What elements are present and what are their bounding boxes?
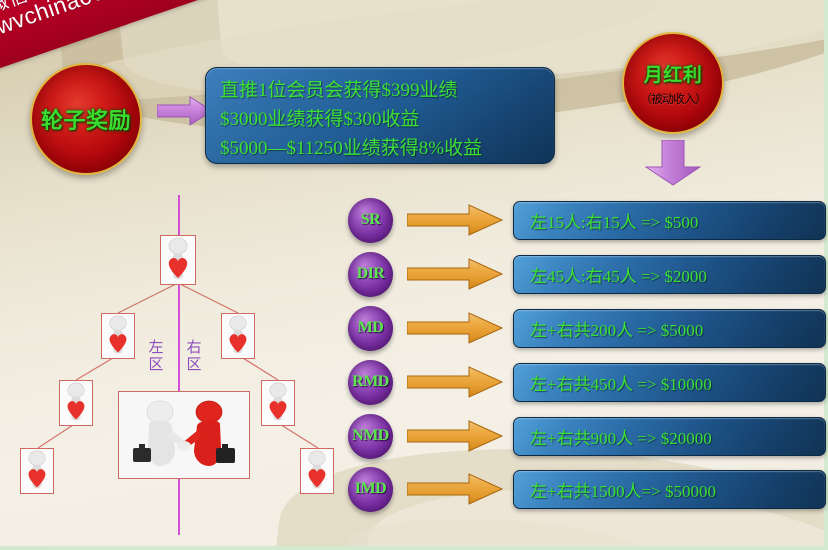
info-line: $3000业绩获得$300收益: [220, 105, 554, 134]
tree-node-left-3[interactable]: [20, 448, 54, 494]
rank-row: DIR 左45人:右45人 => $2000: [348, 252, 826, 296]
rank-badge-rmd[interactable]: RMD: [348, 360, 393, 405]
rank-badge-imd[interactable]: IMD: [348, 467, 393, 512]
rank-row: RMD 左+右共450人 => $10000: [348, 360, 826, 404]
wheel-reward-label: 轮子奖励: [41, 103, 131, 135]
right-arrow-orange-icon: [407, 472, 503, 506]
rank-reward-box: 左+右共1500人=> $50000: [513, 470, 826, 509]
rank-row: NMD 左+右共900人 => $20000: [348, 414, 826, 458]
rank-row: SR 左15人:右15人 => $500: [348, 198, 826, 242]
rank-reward-box: 左+右共200人 => $5000: [513, 309, 826, 348]
zone-label-left: 左区: [148, 340, 164, 374]
monthly-bonus-circle[interactable]: 月红利 （被动收入）: [622, 32, 724, 134]
tree-node-right-3[interactable]: [300, 448, 334, 494]
tree-node-left-1[interactable]: [101, 313, 135, 359]
right-arrow-orange-icon: [407, 365, 503, 399]
watermark-text: 微信 wvchina0001: [0, 0, 133, 39]
rank-reward-box: 左+右共450人 => $10000: [513, 363, 826, 402]
binary-tree-diagram: 左区 右区: [0, 195, 340, 540]
slide-canvas: 微信 wvchina0001 轮子奖励 直推1位会员会获得$399业绩 $300…: [0, 0, 828, 550]
info-line: $5000—$11250业绩获得8%收益: [220, 134, 554, 163]
watermark-line-2: wvchina0001: [0, 0, 133, 39]
rank-badge-nmd[interactable]: NMD: [348, 414, 393, 459]
background-swirl: [347, 512, 650, 550]
rank-reward-box: 左+右共900人 => $20000: [513, 417, 826, 456]
tree-node-root[interactable]: [160, 235, 196, 285]
rank-badge-md[interactable]: MD: [348, 306, 393, 351]
wheel-reward-circle[interactable]: 轮子奖励: [30, 63, 142, 175]
monthly-bonus-label: 月红利: [644, 60, 703, 87]
info-line: 直推1位会员会获得$399业绩: [220, 76, 554, 105]
rank-badge-dir[interactable]: DIR: [348, 252, 393, 297]
zone-label-right: 右区: [186, 340, 202, 374]
wheel-reward-info-box: 直推1位会员会获得$399业绩 $3000业绩获得$300收益 $5000—$1…: [205, 67, 555, 164]
rank-row: IMD 左+右共1500人=> $50000: [348, 467, 826, 511]
right-arrow-orange-icon: [407, 419, 503, 453]
down-arrow-purple-icon: [645, 140, 701, 186]
rank-reward-box: 左15人:右15人 => $500: [513, 201, 826, 240]
slide-bottom-edge: [0, 546, 828, 550]
tree-node-right-1[interactable]: [221, 313, 255, 359]
rank-reward-box: 左45人:右45人 => $2000: [513, 255, 826, 294]
rank-badge-sr[interactable]: SR: [348, 198, 393, 243]
tree-node-right-2[interactable]: [261, 380, 295, 426]
right-arrow-orange-icon: [407, 203, 503, 237]
tree-node-left-2[interactable]: [59, 380, 93, 426]
monthly-bonus-sublabel: （被动收入）: [640, 90, 706, 107]
right-arrow-orange-icon: [407, 257, 503, 291]
rank-row: MD 左+右共200人 => $5000: [348, 306, 826, 350]
right-arrow-orange-icon: [407, 311, 503, 345]
handshake-figures-icon: [118, 391, 250, 479]
